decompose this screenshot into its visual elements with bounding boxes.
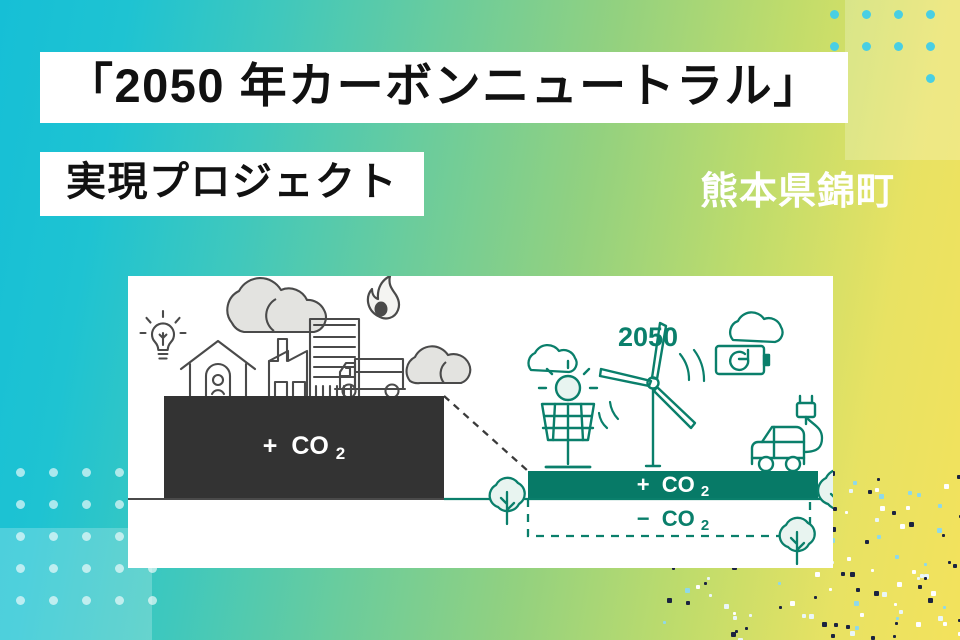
region-label: 熊本県錦町 [700, 160, 895, 215]
left-co2-subscript: 2 [336, 444, 345, 463]
left-plus-sign: + [263, 432, 278, 460]
truck-icon [335, 359, 405, 398]
factory-icon [269, 339, 307, 398]
illustration-svg: + CO 2 2050 [128, 276, 833, 568]
tree-icon [818, 469, 833, 524]
smoke-cloud-icon [407, 346, 471, 383]
right-scene: 2050 [444, 312, 833, 564]
cloud-icon [529, 345, 577, 372]
page-subtitle: 実現プロジェクト [66, 161, 398, 203]
offset-co2-label: − CO 2 [637, 506, 709, 534]
tree-icon [780, 518, 815, 564]
right-co2-subscript: 2 [701, 483, 709, 500]
left-co2-text: CO [291, 432, 329, 460]
connector-dashed-line [444, 396, 528, 471]
page-title: 「2050 年カーボンニュートラル」 [66, 61, 822, 110]
solar-panel-icon [539, 361, 597, 467]
lightbulb-icon [141, 311, 186, 359]
title-bar: 「2050 年カーボンニュートラル」 [40, 52, 848, 123]
right-plus-sign: + [637, 472, 650, 497]
electric-car-icon [752, 396, 822, 471]
offset-co2-text: CO [662, 506, 695, 531]
subtitle-bar: 実現プロジェクト [40, 152, 424, 216]
right-co2-text: CO [662, 472, 695, 497]
year-2050-label: 2050 [618, 322, 678, 352]
smoke-cloud-icon [227, 278, 326, 332]
illustration-panel: + CO 2 2050 [128, 276, 833, 568]
cloud-icon [730, 312, 782, 342]
battery-recycle-icon [716, 346, 769, 374]
carbon-neutral-banner: 「2050 年カーボンニュートラル」 実現プロジェクト 熊本県錦町 [0, 0, 960, 640]
left-co2-label: + CO 2 [263, 432, 345, 463]
minus-sign: − [637, 506, 650, 531]
house-icon [181, 341, 255, 398]
left-scene: + CO 2 [128, 276, 833, 499]
flame-icon [368, 276, 399, 318]
right-co2-label: + CO 2 [637, 472, 709, 500]
tree-icon [490, 478, 525, 524]
offset-co2-subscript: 2 [701, 517, 709, 534]
